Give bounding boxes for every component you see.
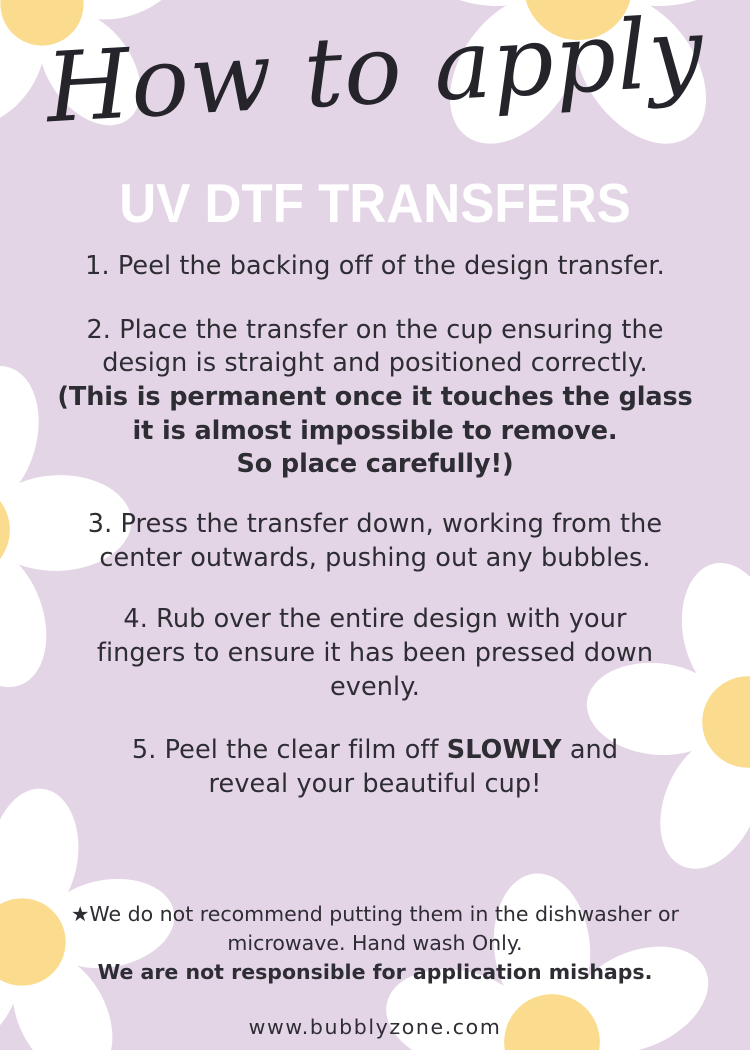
step-5-suffix: and bbox=[562, 735, 618, 765]
step-5-prefix: 5. Peel the clear film off bbox=[132, 735, 447, 765]
step-emphasis-line: it is almost impossible to remove. bbox=[26, 415, 724, 449]
step-line: center outwards, pushing out any bubbles… bbox=[26, 542, 724, 576]
disclaimer-text: ★We do not recommend putting them in the… bbox=[26, 900, 724, 987]
website-url[interactable]: www.bubblyzone.com bbox=[26, 1015, 724, 1039]
page-title-script: How to apply bbox=[0, 0, 750, 144]
instruction-steps-list: 1. Peel the backing off of the design tr… bbox=[26, 250, 724, 802]
step-line: 3. Press the transfer down, working from… bbox=[26, 508, 724, 542]
step-line: 2. Place the transfer on the cup ensurin… bbox=[26, 314, 724, 348]
step-line: design is straight and positioned correc… bbox=[26, 347, 724, 381]
poster-canvas: How to apply UV DTF TRANSFERS 1. Peel th… bbox=[0, 0, 750, 1050]
step-5-bold-word: SLOWLY bbox=[447, 735, 562, 765]
instruction-step-2: 2. Place the transfer on the cup ensurin… bbox=[26, 314, 724, 482]
step-line: 4. Rub over the entire design with your bbox=[26, 603, 724, 637]
instruction-step-4: 4. Rub over the entire design with your … bbox=[26, 603, 724, 704]
page-title-block: UV DTF TRANSFERS bbox=[26, 176, 724, 231]
instruction-step-5: 5. Peel the clear film off SLOWLY and re… bbox=[26, 734, 724, 801]
step-emphasis-line: So place carefully!) bbox=[26, 448, 724, 482]
footer-block: ★We do not recommend putting them in the… bbox=[26, 900, 724, 1039]
disclaimer-line-2: microwave. Hand wash Only. bbox=[26, 929, 724, 958]
instruction-step-1: 1. Peel the backing off of the design tr… bbox=[26, 250, 724, 284]
step-emphasis-line: (This is permanent once it touches the g… bbox=[26, 381, 724, 415]
disclaimer-line-3: We are not responsible for application m… bbox=[26, 958, 724, 987]
step-line: 5. Peel the clear film off SLOWLY and bbox=[26, 734, 724, 768]
disclaimer-line-1: ★We do not recommend putting them in the… bbox=[26, 900, 724, 929]
step-line: fingers to ensure it has been pressed do… bbox=[26, 637, 724, 671]
instruction-step-3: 3. Press the transfer down, working from… bbox=[26, 508, 724, 575]
step-line: reveal your beautiful cup! bbox=[26, 768, 724, 802]
step-line: evenly. bbox=[26, 671, 724, 705]
step-line: 1. Peel the backing off of the design tr… bbox=[26, 250, 724, 284]
content-layer: How to apply UV DTF TRANSFERS 1. Peel th… bbox=[0, 0, 750, 1050]
